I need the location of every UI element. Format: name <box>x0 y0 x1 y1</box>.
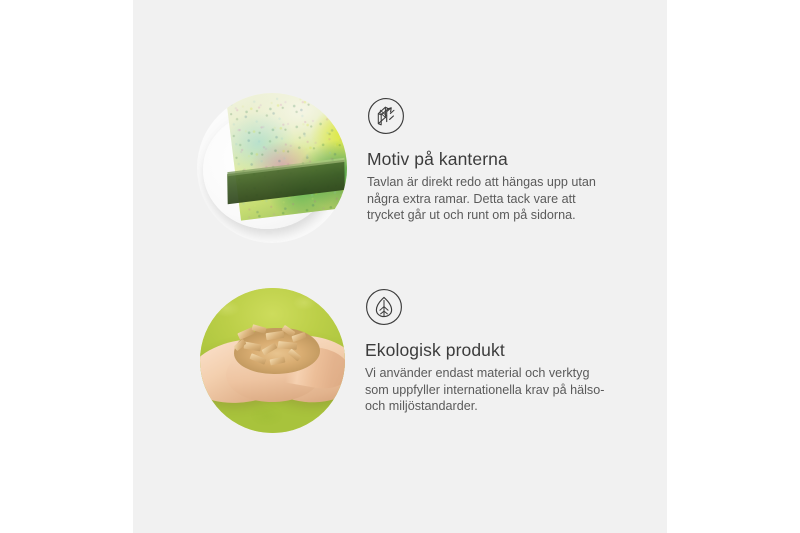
leaf-icon <box>365 288 403 326</box>
feature-2-photo-wrap <box>133 288 345 433</box>
infographic-stage: Motiv på kanterna Tavlan är direkt redo … <box>0 0 800 533</box>
canvas-print-corner-photo <box>197 93 347 243</box>
feature-block-motiv-pa-kanterna: Motiv på kanterna Tavlan är direkt redo … <box>133 93 667 243</box>
canvas-wrapped-edges-icon <box>367 97 405 135</box>
feature-1-description: Tavlan är direkt redo att hängas upp uta… <box>367 174 612 224</box>
feature-1-text-column: Motiv på kanterna Tavlan är direkt redo … <box>347 93 667 224</box>
eco-photo-background <box>200 288 345 433</box>
feature-2-description: Vi använder endast material och verktyg … <box>365 365 610 415</box>
feature-2-title: Ekologisk produkt <box>365 339 667 361</box>
feature-block-ekologisk-produkt: Ekologisk produkt Vi använder endast mat… <box>133 288 667 433</box>
canvas-photo-background <box>197 93 347 243</box>
feature-2-text-column: Ekologisk produkt Vi använder endast mat… <box>345 288 667 415</box>
hands-holding-wood-chips-photo <box>200 288 345 433</box>
feature-1-photo-wrap <box>133 93 347 243</box>
feature-1-title: Motiv på kanterna <box>367 148 667 170</box>
content-panel: Motiv på kanterna Tavlan är direkt redo … <box>133 0 667 533</box>
